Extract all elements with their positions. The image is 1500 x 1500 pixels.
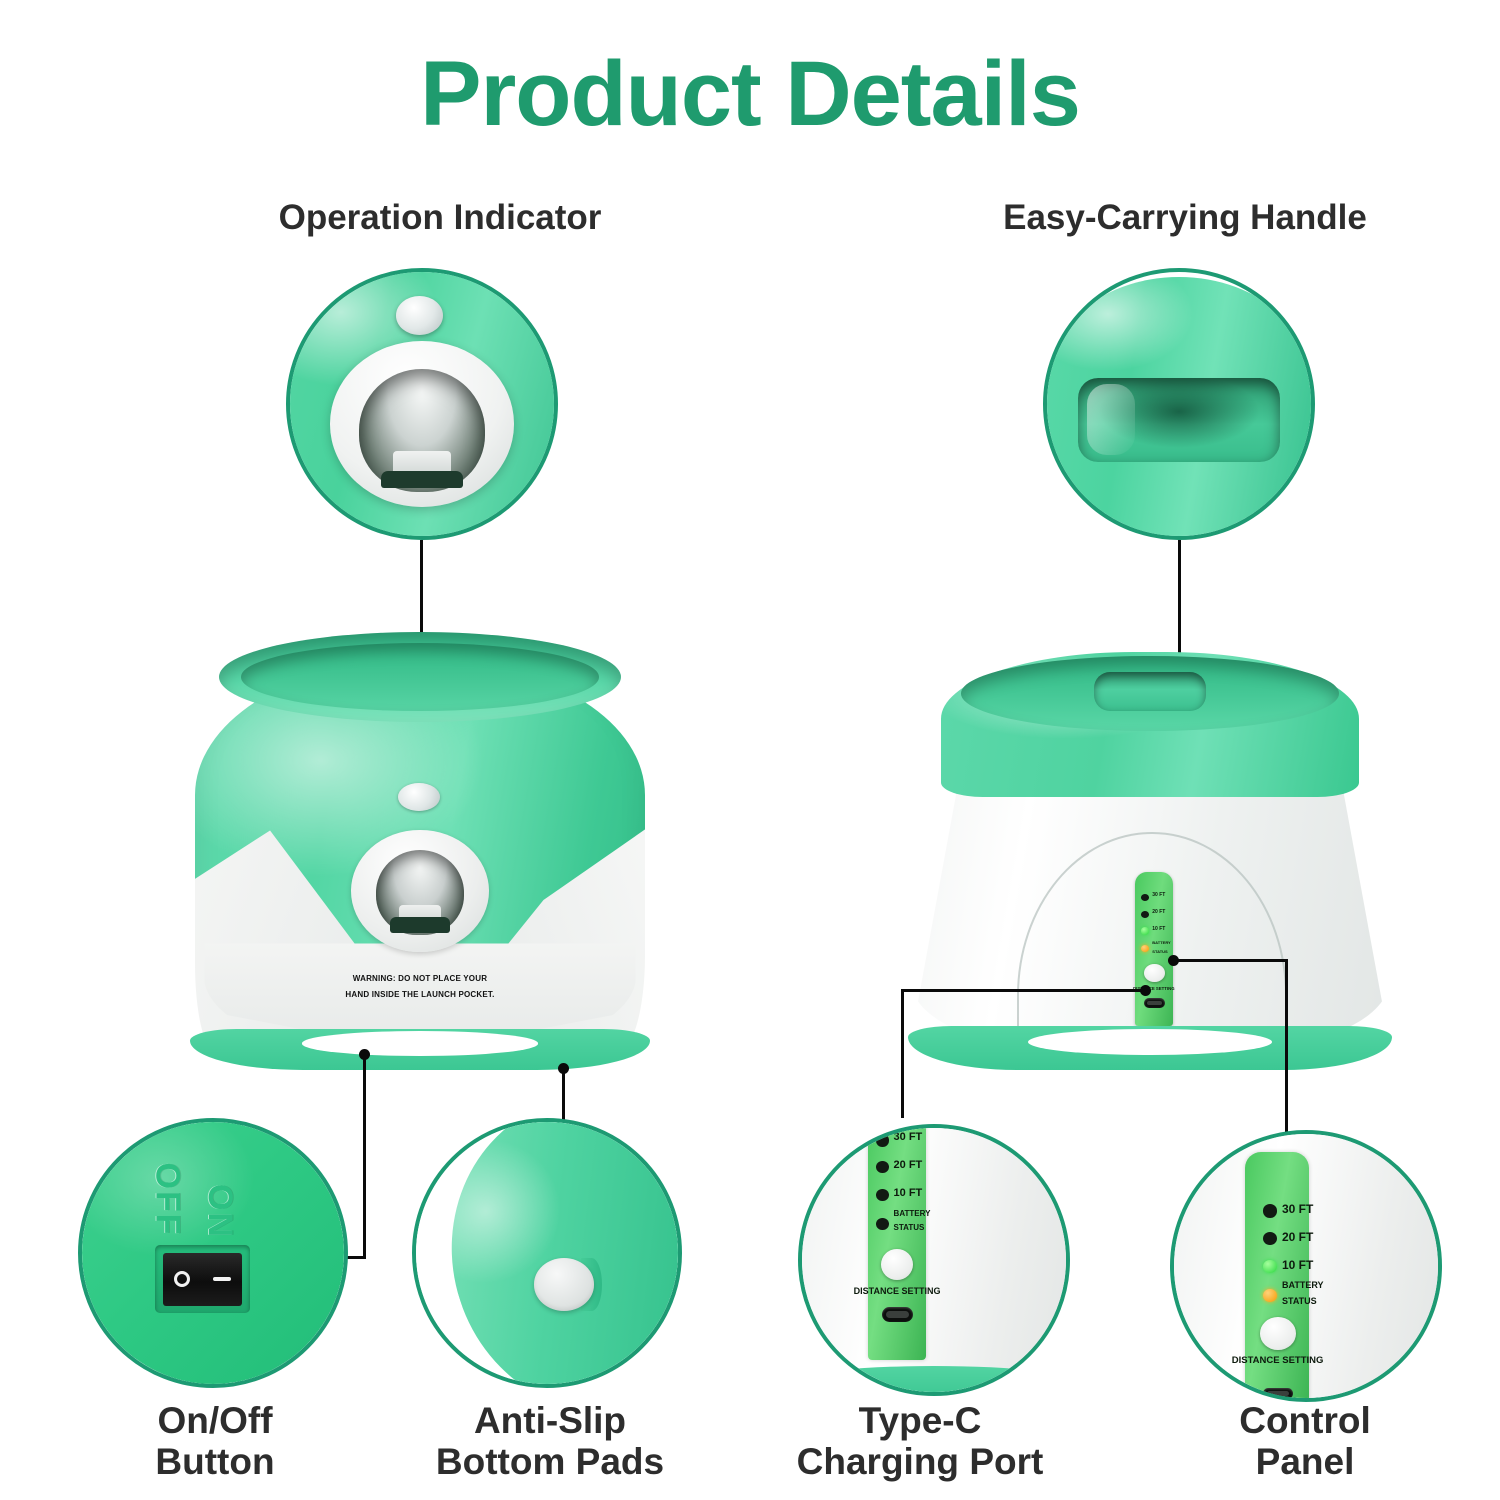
led-20ft (1141, 911, 1149, 918)
led-label-30ft: 30 FT (894, 1131, 923, 1143)
leader-line-anti-slip (562, 1068, 565, 1120)
led-label-10ft: 10 FT (1152, 926, 1165, 932)
led-label-battery-line2: STATUS (1282, 1296, 1317, 1306)
front-bowl-inner (241, 643, 599, 711)
front-base-notch (302, 1031, 537, 1055)
product-front-view: WARNING: DO NOT PLACE YOUR HAND INSIDE T… (175, 618, 665, 1070)
leader-line-type-c-h (901, 989, 1144, 992)
caption-operation-indicator: Operation Indicator (180, 198, 700, 237)
launch-pocket-ring (351, 830, 488, 952)
caption-control-panel: Control Panel (1165, 1400, 1445, 1483)
callout-easy-carrying-handle (1043, 268, 1315, 540)
motion-sensor-icon (396, 296, 444, 336)
callout-background (802, 1128, 1066, 1392)
led-label-30ft: 30 FT (1152, 892, 1165, 898)
carry-handle-grip[interactable] (1094, 672, 1206, 712)
led-battery-status (876, 1218, 889, 1230)
control-panel-strip: 30 FT 20 FT 10 FT BATTERY STATUS DISTANC… (868, 1124, 926, 1360)
back-base-notch (1028, 1029, 1273, 1055)
control-panel-strip: 30 FT 20 FT 10 FT BATTERY STATUS DISTANC… (1135, 872, 1173, 1026)
warning-text-line1: WARNING: DO NOT PLACE YOUR (244, 971, 597, 987)
distance-setting-caption: DISTANCE SETTING (1224, 1355, 1332, 1366)
device-top-closeup (1043, 277, 1315, 540)
distance-setting-button[interactable] (1144, 964, 1165, 982)
led-label-30ft: 30 FT (1282, 1202, 1313, 1216)
led-label-10ft: 10 FT (1282, 1258, 1313, 1272)
caption-anti-slip-line2: Bottom Pads (415, 1441, 685, 1482)
led-label-battery-line2: STATUS (894, 1223, 925, 1232)
warning-text: WARNING: DO NOT PLACE YOUR HAND INSIDE T… (244, 971, 597, 1003)
callout-control-panel: 30 FT 20 FT 10 FT BATTERY STATUS DISTANC… (1170, 1130, 1442, 1402)
distance-setting-caption: DISTANCE SETTING (847, 1286, 947, 1296)
led-battery-status (1263, 1289, 1277, 1302)
launch-mechanism-shadow (381, 471, 464, 488)
caption-type-c-line2: Charging Port (770, 1441, 1070, 1482)
caption-control-panel-line1: Control (1165, 1400, 1445, 1441)
caption-type-c-charging-port: Type-C Charging Port (770, 1400, 1070, 1483)
callout-anti-slip-bottom-pads (412, 1118, 682, 1388)
product-back-view: 30 FT 20 FT 10 FT BATTERY STATUS DISTANC… (895, 630, 1405, 1070)
led-10ft (876, 1189, 889, 1201)
led-label-10ft: 10 FT (894, 1187, 923, 1199)
launch-pocket-opening (359, 369, 485, 492)
led-20ft (1263, 1232, 1277, 1245)
leader-line-on-off-v (363, 1054, 366, 1259)
usb-type-c-port[interactable] (1263, 1388, 1293, 1399)
caption-easy-carrying-handle: Easy-Carrying Handle (905, 198, 1465, 237)
led-20ft (876, 1161, 889, 1173)
led-label-battery-line1: BATTERY (1282, 1280, 1324, 1290)
led-30ft (1263, 1204, 1277, 1217)
power-on-symbol-icon (213, 1277, 231, 1281)
leader-line-control-panel-v (1285, 959, 1288, 1139)
leader-line-type-c-v (901, 989, 904, 1118)
launch-pocket-opening (376, 850, 464, 935)
led-label-battery-line1: BATTERY (1152, 940, 1170, 945)
callout-on-off-button: OFF ON (78, 1118, 348, 1388)
callout-operation-indicator (286, 268, 558, 540)
caption-on-off-button: On/Off Button (85, 1400, 345, 1483)
led-label-20ft: 20 FT (894, 1159, 923, 1171)
led-label-battery-line2: STATUS (1152, 949, 1167, 954)
anti-slip-pad (534, 1258, 594, 1310)
caption-on-off-button-line1: On/Off (85, 1400, 345, 1441)
page-title: Product Details (0, 48, 1500, 140)
led-label-battery-line1: BATTERY (894, 1209, 931, 1218)
led-label-20ft: 20 FT (1282, 1230, 1313, 1244)
switch-bezel (155, 1245, 249, 1313)
caption-anti-slip-bottom-pads: Anti-Slip Bottom Pads (415, 1400, 685, 1483)
callout-type-c-charging-port: 30 FT 20 FT 10 FT BATTERY STATUS DISTANC… (798, 1124, 1070, 1396)
led-30ft (876, 1134, 889, 1146)
carry-handle-grip (1078, 378, 1279, 462)
launch-pocket-ring (330, 341, 515, 507)
led-label-20ft: 20 FT (1152, 909, 1165, 915)
distance-setting-button[interactable] (1260, 1317, 1295, 1350)
caption-control-panel-line2: Panel (1165, 1441, 1445, 1482)
warning-text-line2: HAND INSIDE THE LAUNCH POCKET. (244, 987, 597, 1003)
caption-type-c-line1: Type-C (770, 1400, 1070, 1441)
leader-line-control-panel-h (1172, 959, 1288, 962)
led-10ft (1141, 927, 1149, 934)
switch-off-label: OFF (147, 1163, 186, 1237)
power-off-symbol-icon (174, 1271, 190, 1287)
led-30ft (1141, 894, 1149, 901)
device-base-edge (798, 1366, 1070, 1396)
control-panel-strip: 30 FT 20 FT 10 FT BATTERY STATUS DISTANC… (1245, 1152, 1308, 1402)
caption-on-off-button-line2: Button (85, 1441, 345, 1482)
usb-type-c-port[interactable] (1144, 998, 1165, 1007)
launch-mechanism-shadow (390, 917, 450, 932)
usb-type-c-port[interactable] (882, 1307, 913, 1323)
handle-highlight (1087, 384, 1135, 455)
switch-on-label: ON (200, 1184, 239, 1239)
motion-sensor-icon (398, 783, 440, 811)
power-rocker-switch[interactable] (163, 1253, 242, 1306)
led-10ft (1263, 1260, 1277, 1273)
led-battery-status (1141, 945, 1149, 952)
caption-anti-slip-line1: Anti-Slip (415, 1400, 685, 1441)
distance-setting-button[interactable] (881, 1249, 914, 1281)
